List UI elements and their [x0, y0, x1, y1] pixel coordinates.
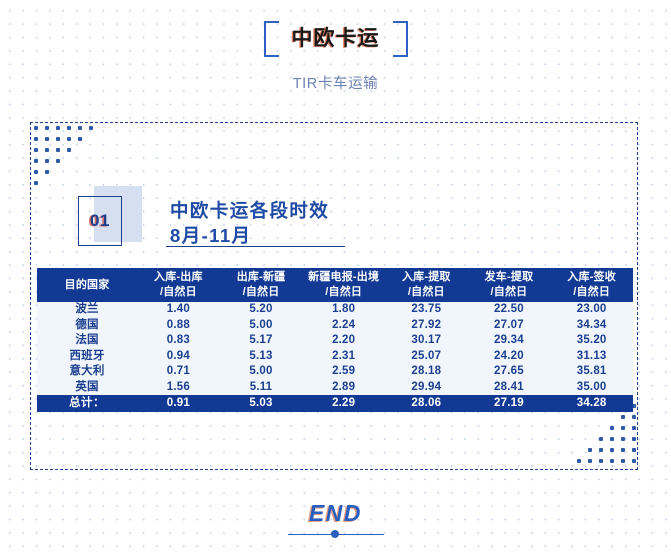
section-title-line1: 中欧卡运各段时效 [170, 198, 470, 223]
decorative-dot [34, 126, 38, 130]
column-header-inbound-pickup-line1: 入库-提取 [402, 271, 451, 283]
decorative-dot [34, 137, 38, 141]
cell-departure-pickup: 22.50 [468, 302, 551, 318]
decorative-dot [599, 448, 603, 452]
cell-inbound-outbound: 0.83 [137, 333, 220, 349]
page-footer: END [0, 500, 671, 558]
cell-inbound-signed: 23.00 [550, 302, 633, 318]
decorative-dots-top-left [34, 126, 104, 194]
corner-bracket-bottom-left-icon [264, 22, 279, 57]
decorative-dot [621, 437, 625, 441]
cell-inbound-outbound: 0.94 [137, 349, 220, 365]
section-title: 中欧卡运各段时效 8月-11月 [170, 198, 470, 248]
cell-inbound-pickup: 28.18 [385, 364, 468, 380]
cell-country: 意大利 [37, 364, 137, 380]
section-number-badge: 01 [78, 190, 142, 252]
corner-bracket-bottom-right-icon [393, 22, 408, 57]
table-row: 西班牙 0.94 5.13 2.31 25.07 24.20 31.13 [37, 349, 633, 365]
column-header-country-line1: 目的国家 [65, 279, 110, 291]
transit-time-table: 目的国家 入库-出库 /自然日 出库-新疆 /自然日 新疆电报-出境 /自然日 … [37, 268, 633, 412]
cell-inbound-signed: 35.81 [550, 364, 633, 380]
cell-country: 西班牙 [37, 349, 137, 365]
cell-inbound-signed: 31.13 [550, 349, 633, 365]
decorative-dot [67, 126, 71, 130]
decorative-dot [588, 459, 592, 463]
cell-inbound-pickup: 23.75 [385, 302, 468, 318]
column-header-xinjiang-exit: 新疆电报-出境 /自然日 [302, 268, 385, 302]
cell-outbound-xinjiang: 5.20 [220, 302, 303, 318]
brand-title: 中欧卡运 [292, 25, 380, 53]
decorative-dot [621, 426, 625, 430]
cell-outbound-xinjiang: 5.00 [220, 318, 303, 334]
column-header-inbound-pickup-line2: /自然日 [385, 285, 468, 300]
cell-inbound-pickup: 30.17 [385, 333, 468, 349]
cell-total-departure-pickup: 27.19 [468, 395, 551, 412]
cell-total-inbound-signed: 34.28 [550, 395, 633, 412]
column-header-inbound-signed: 入库-签收 /自然日 [550, 268, 633, 302]
decorative-dot [621, 415, 625, 419]
decorative-dot [599, 459, 603, 463]
decorative-dot [34, 170, 38, 174]
table-row: 英国 1.56 5.11 2.89 29.94 28.41 35.00 [37, 380, 633, 396]
column-header-inbound-outbound: 入库-出库 /自然日 [137, 268, 220, 302]
cell-outbound-xinjiang: 5.11 [220, 380, 303, 396]
decorative-dot [632, 437, 636, 441]
section-title-line2: 8月-11月 [170, 223, 470, 248]
column-header-inbound-pickup: 入库-提取 /自然日 [385, 268, 468, 302]
decorative-dot [45, 126, 49, 130]
end-label: END [0, 500, 671, 527]
decorative-dot [56, 137, 60, 141]
cell-total-outbound-xinjiang: 5.03 [220, 395, 303, 412]
badge-number-label: 01 [90, 211, 110, 231]
cell-xinjiang-exit: 2.31 [302, 349, 385, 365]
column-header-outbound-xinjiang: 出库-新疆 /自然日 [220, 268, 303, 302]
decorative-dot [34, 159, 38, 163]
cell-total-xinjiang-exit: 2.29 [302, 395, 385, 412]
cell-departure-pickup: 28.41 [468, 380, 551, 396]
decorative-dot [89, 126, 93, 130]
table-head: 目的国家 入库-出库 /自然日 出库-新疆 /自然日 新疆电报-出境 /自然日 … [37, 268, 633, 302]
cell-xinjiang-exit: 2.20 [302, 333, 385, 349]
brand-subtitle: TIR卡车运输 [0, 72, 671, 93]
column-header-departure-pickup: 发车-提取 /自然日 [468, 268, 551, 302]
cell-departure-pickup: 27.65 [468, 364, 551, 380]
cell-inbound-signed: 35.20 [550, 333, 633, 349]
column-header-departure-pickup-line1: 发车-提取 [485, 271, 534, 283]
column-header-inbound-signed-line2: /自然日 [550, 285, 633, 300]
decorative-dot [34, 181, 38, 185]
cell-departure-pickup: 27.07 [468, 318, 551, 334]
cell-country: 英国 [37, 380, 137, 396]
cell-xinjiang-exit: 2.24 [302, 318, 385, 334]
table-header-row: 目的国家 入库-出库 /自然日 出库-新疆 /自然日 新疆电报-出境 /自然日 … [37, 268, 633, 302]
cell-total-inbound-pickup: 28.06 [385, 395, 468, 412]
column-header-country: 目的国家 [37, 268, 137, 302]
decorative-dot [45, 148, 49, 152]
table-row: 意大利 0.71 5.00 2.59 28.18 27.65 35.81 [37, 364, 633, 380]
cell-inbound-signed: 34.34 [550, 318, 633, 334]
decorative-dot [632, 459, 636, 463]
decorative-dot [56, 159, 60, 163]
decorative-dot [610, 459, 614, 463]
cell-country: 德国 [37, 318, 137, 334]
column-header-inbound-outbound-line1: 入库-出库 [154, 271, 203, 283]
column-header-outbound-xinjiang-line2: /自然日 [220, 285, 303, 300]
decorative-dot [56, 126, 60, 130]
end-divider-dot-icon [331, 530, 339, 538]
cell-country: 法国 [37, 333, 137, 349]
brand-bracket-box: 中欧卡运 [260, 20, 412, 58]
cell-xinjiang-exit: 1.80 [302, 302, 385, 318]
decorative-dot [78, 137, 82, 141]
cell-inbound-outbound: 0.71 [137, 364, 220, 380]
decorative-dot [621, 448, 625, 452]
cell-inbound-outbound: 1.56 [137, 380, 220, 396]
decorative-dot [45, 159, 49, 163]
cell-country: 波兰 [37, 302, 137, 318]
cell-inbound-pickup: 25.07 [385, 349, 468, 365]
cell-departure-pickup: 29.34 [468, 333, 551, 349]
cell-inbound-pickup: 27.92 [385, 318, 468, 334]
cell-total-label: 总计： [37, 395, 137, 412]
decorative-dot [45, 170, 49, 174]
cell-total-inbound-outbound: 0.91 [137, 395, 220, 412]
cell-outbound-xinjiang: 5.00 [220, 364, 303, 380]
decorative-dot [632, 426, 636, 430]
decorative-dot [599, 437, 603, 441]
table-row: 法国 0.83 5.17 2.20 30.17 29.34 35.20 [37, 333, 633, 349]
table-row: 波兰 1.40 5.20 1.80 23.75 22.50 23.00 [37, 302, 633, 318]
cell-xinjiang-exit: 2.89 [302, 380, 385, 396]
column-header-xinjiang-exit-line1: 新疆电报-出境 [308, 271, 379, 283]
table-row: 德国 0.88 5.00 2.24 27.92 27.07 34.34 [37, 318, 633, 334]
cell-inbound-outbound: 0.88 [137, 318, 220, 334]
decorative-dot [632, 415, 636, 419]
page-header: 中欧卡运 TIR卡车运输 [0, 0, 671, 110]
decorative-dot [45, 137, 49, 141]
badge-outline-box: 01 [78, 196, 122, 246]
column-header-xinjiang-exit-line2: /自然日 [302, 285, 385, 300]
decorative-dot [632, 448, 636, 452]
decorative-dot [610, 448, 614, 452]
cell-inbound-outbound: 1.40 [137, 302, 220, 318]
cell-inbound-pickup: 29.94 [385, 380, 468, 396]
table-body: 波兰 1.40 5.20 1.80 23.75 22.50 23.00 德国 0… [37, 302, 633, 412]
cell-outbound-xinjiang: 5.17 [220, 333, 303, 349]
decorative-dot [577, 459, 581, 463]
decorative-dots-bottom-right [566, 404, 636, 470]
cell-outbound-xinjiang: 5.13 [220, 349, 303, 365]
cell-departure-pickup: 24.20 [468, 349, 551, 365]
section-title-underline [166, 246, 345, 247]
decorative-dot [588, 448, 592, 452]
decorative-dot [56, 148, 60, 152]
decorative-dot [621, 459, 625, 463]
cell-inbound-signed: 35.00 [550, 380, 633, 396]
decorative-dot [67, 148, 71, 152]
column-header-outbound-xinjiang-line1: 出库-新疆 [237, 271, 286, 283]
column-header-departure-pickup-line2: /自然日 [468, 285, 551, 300]
decorative-dot [78, 126, 82, 130]
table-total-row: 总计： 0.91 5.03 2.29 28.06 27.19 34.28 [37, 395, 633, 412]
cell-xinjiang-exit: 2.59 [302, 364, 385, 380]
column-header-inbound-signed-line1: 入库-签收 [567, 271, 616, 283]
column-header-inbound-outbound-line2: /自然日 [137, 285, 220, 300]
decorative-dot [67, 137, 71, 141]
decorative-dot [34, 148, 38, 152]
decorative-dot [610, 437, 614, 441]
brand-block: 中欧卡运 [0, 20, 671, 58]
decorative-dot [610, 426, 614, 430]
